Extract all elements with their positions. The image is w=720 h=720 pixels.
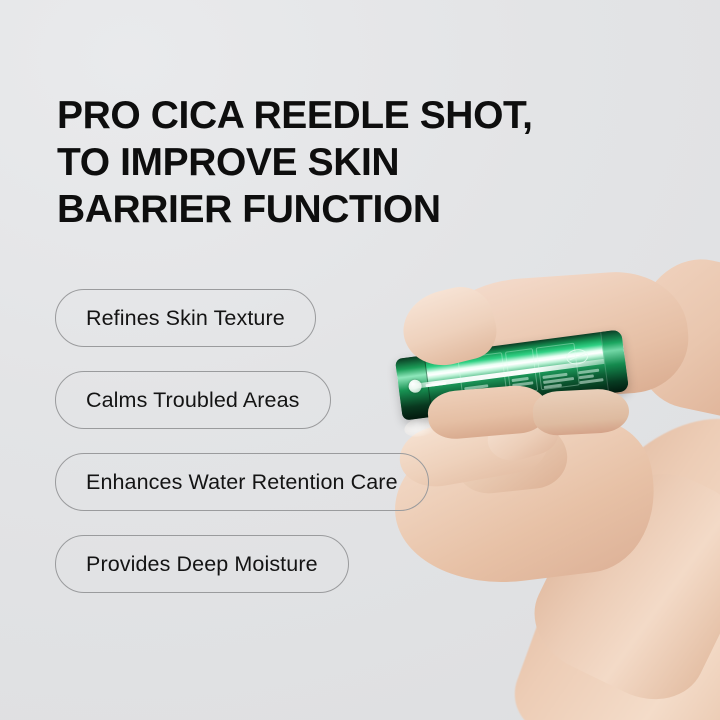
benefit-chip-label: Provides Deep Moisture bbox=[86, 552, 318, 577]
benefit-chip-calms-troubled-areas[interactable]: Calms Troubled Areas bbox=[55, 371, 331, 429]
benefit-list: Refines Skin Texture Calms Troubled Area… bbox=[55, 289, 429, 617]
product-promo-banner: PRO CICA REEDLE SHOT, TO IMPROVE SKIN BA… bbox=[0, 0, 720, 720]
benefit-chip-enhances-water-retention-care[interactable]: Enhances Water Retention Care bbox=[55, 453, 429, 511]
benefit-chip-label: Refines Skin Texture bbox=[86, 306, 285, 331]
benefit-chip-provides-deep-moisture[interactable]: Provides Deep Moisture bbox=[55, 535, 349, 593]
upper-middle-finger bbox=[532, 388, 630, 437]
benefit-chip-label: Calms Troubled Areas bbox=[86, 388, 300, 413]
benefit-chip-refines-skin-texture[interactable]: Refines Skin Texture bbox=[55, 289, 316, 347]
page-title: PRO CICA REEDLE SHOT, TO IMPROVE SKIN BA… bbox=[57, 92, 577, 233]
benefit-chip-label: Enhances Water Retention Care bbox=[86, 470, 398, 495]
